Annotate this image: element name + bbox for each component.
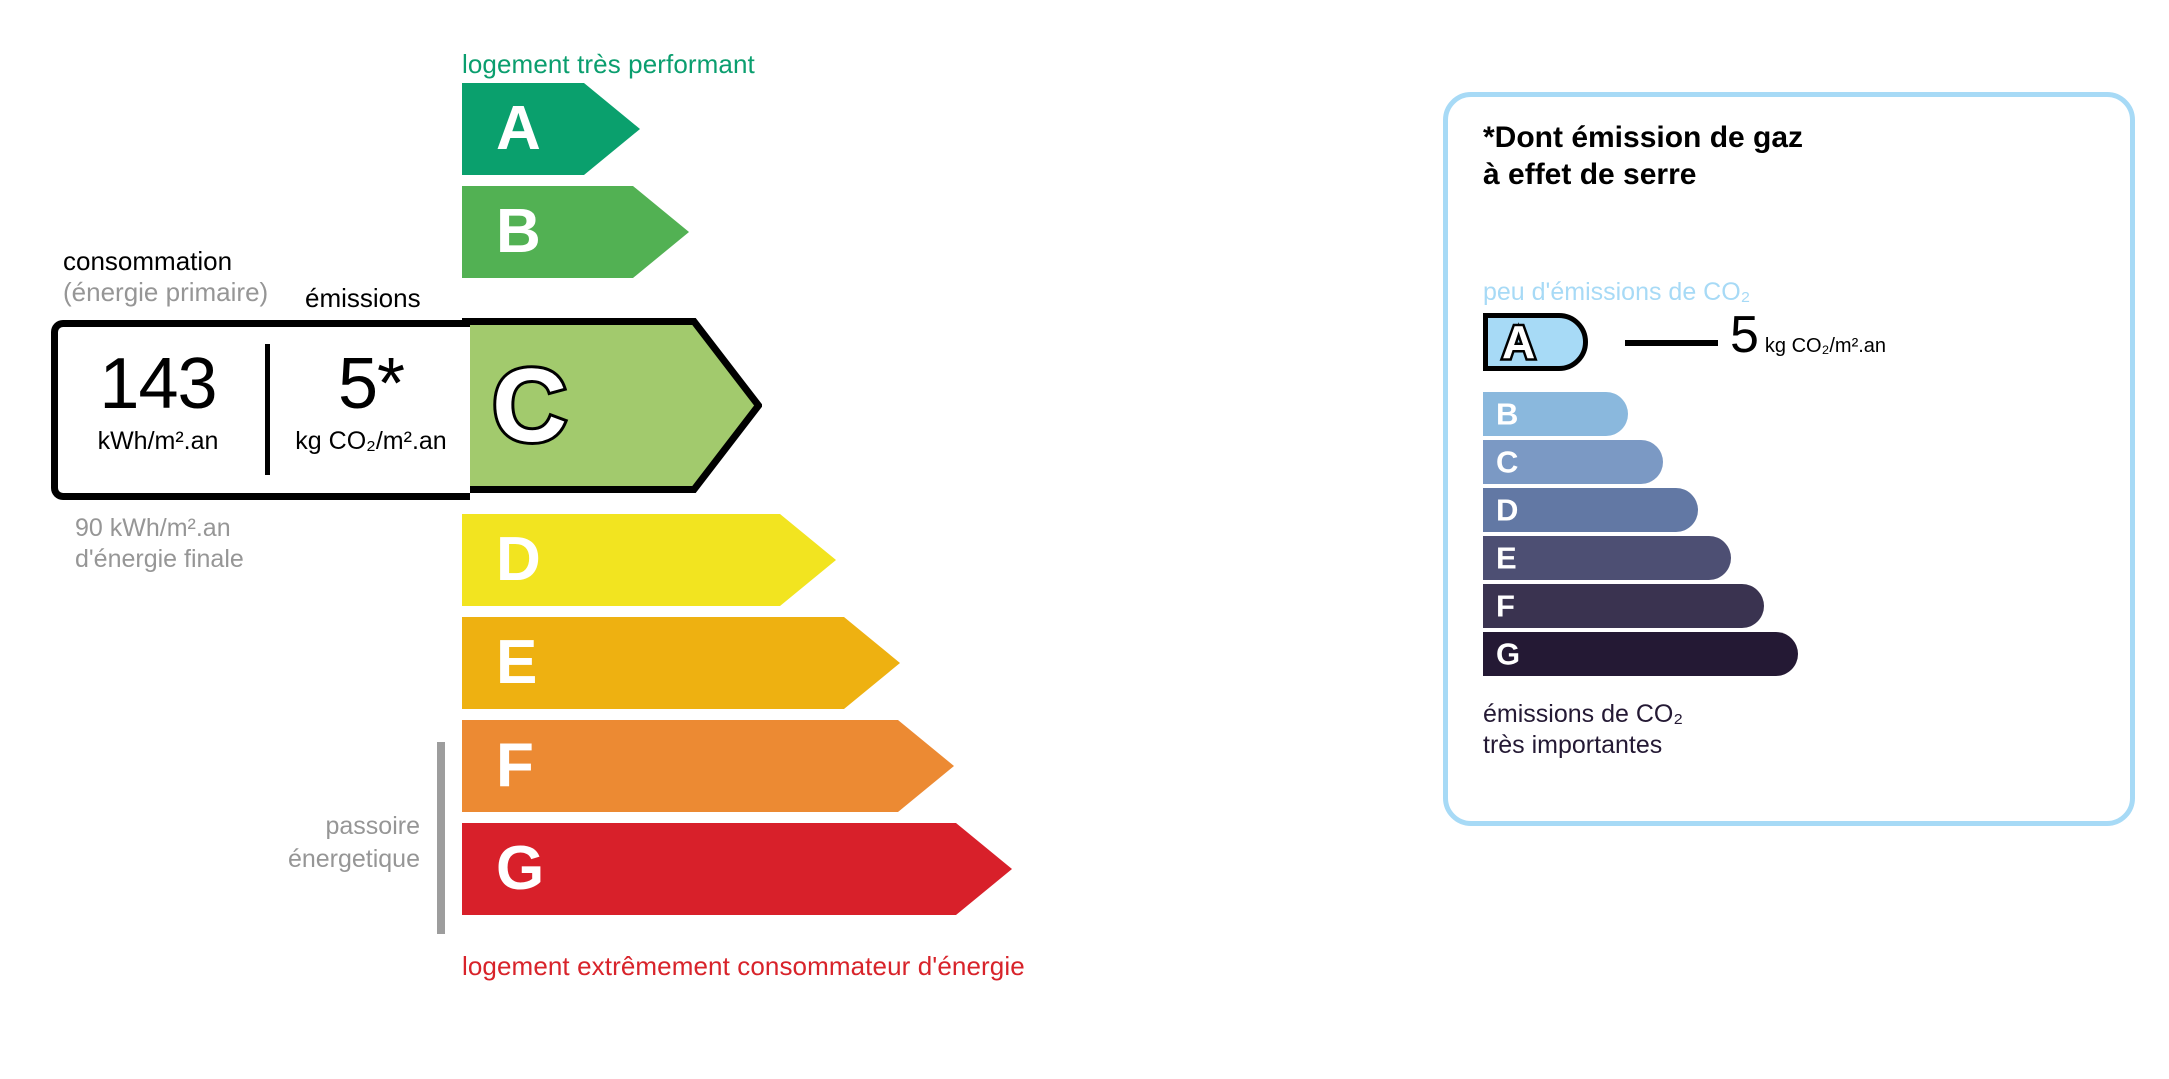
passoire-label-line1: passoire bbox=[180, 810, 420, 843]
co2-bar-b: B bbox=[1483, 392, 1628, 436]
dpe-arrow-letter-b: B bbox=[496, 201, 541, 263]
dpe-arrow-b: B bbox=[462, 186, 689, 278]
co2-bar-c: C bbox=[1483, 440, 1663, 484]
dpe-class-b: B bbox=[462, 186, 689, 278]
co2-bottom-caption-line2: très importantes bbox=[1483, 730, 1683, 761]
co2-bar-e: E bbox=[1483, 536, 1731, 580]
co2-class-c: C bbox=[1483, 440, 1663, 484]
dpe-arrow-letter-a: A bbox=[496, 98, 541, 160]
co2-bar-g: G bbox=[1483, 632, 1798, 676]
co2-class-b: B bbox=[1483, 392, 1628, 436]
co2-bar-letter-c: C bbox=[1496, 447, 1518, 478]
dpe-bottom-caption: logement extrêmement consommateur d'éner… bbox=[462, 951, 1025, 982]
co2-class-d: D bbox=[1483, 488, 1698, 532]
dpe-arrow-c: C bbox=[462, 318, 762, 493]
co2-bar-letter-b: B bbox=[1496, 399, 1518, 430]
consumption-value: 143 bbox=[51, 348, 265, 420]
passoire-label: passoire énergetique bbox=[180, 810, 420, 875]
co2-class-e: E bbox=[1483, 536, 1731, 580]
emissions-value: 5* bbox=[272, 348, 470, 420]
value-box-divider bbox=[265, 344, 270, 475]
emissions-header: émissions bbox=[305, 283, 421, 314]
co2-title: *Dont émission de gaz à effet de serre bbox=[1483, 120, 1803, 193]
consumption-header-line1: consommation bbox=[63, 246, 232, 276]
co2-value-readout: 5kg CO₂/m².an bbox=[1730, 309, 1886, 361]
consumption-header: consommation (énergie primaire) bbox=[63, 246, 268, 307]
dpe-top-caption: logement très performant bbox=[462, 49, 755, 80]
dpe-arrow-letter-g: G bbox=[496, 838, 544, 900]
dpe-energy-label: logement très performant ABCDEFG consomm… bbox=[0, 0, 1400, 1079]
dpe-arrow-d: D bbox=[462, 514, 836, 606]
dpe-class-f: F bbox=[462, 720, 954, 812]
consumption-unit: kWh/m².an bbox=[51, 427, 265, 456]
dpe-arrow-letter-d: D bbox=[496, 529, 541, 591]
emissions-unit: kg CO₂/m².an bbox=[272, 427, 470, 456]
consumption-value-cell: 143 kWh/m².an bbox=[51, 348, 265, 456]
co2-bar-letter-e: E bbox=[1496, 543, 1517, 574]
dpe-arrow-a: A bbox=[462, 83, 640, 175]
co2-top-caption: peu d'émissions de CO₂ bbox=[1483, 278, 1750, 307]
co2-bar-letter-f: F bbox=[1496, 591, 1515, 622]
dpe-arrow-g: G bbox=[462, 823, 1012, 915]
dpe-class-c: C bbox=[462, 318, 762, 493]
co2-unit: kg CO₂/m².an bbox=[1765, 335, 1886, 357]
dpe-arrow-letter-c: C bbox=[492, 354, 567, 458]
co2-class-g: G bbox=[1483, 632, 1798, 676]
co2-bar-letter-g: G bbox=[1496, 639, 1520, 670]
final-energy-line1: 90 kWh/m².an bbox=[75, 513, 244, 544]
dpe-arrow-letter-e: E bbox=[496, 632, 537, 694]
co2-title-line2: à effet de serre bbox=[1483, 157, 1803, 194]
passoire-bracket bbox=[437, 742, 445, 934]
co2-bar-letter-a: A bbox=[1502, 319, 1535, 365]
dpe-class-d: D bbox=[462, 514, 836, 606]
dpe-arrow-e: E bbox=[462, 617, 900, 709]
passoire-label-line2: énergetique bbox=[180, 843, 420, 876]
co2-bar-d: D bbox=[1483, 488, 1698, 532]
consumption-header-line2: (énergie primaire) bbox=[63, 277, 268, 308]
co2-class-f: F bbox=[1483, 584, 1764, 628]
dpe-arrow-f: F bbox=[462, 720, 954, 812]
final-energy-note: 90 kWh/m².an d'énergie finale bbox=[75, 513, 244, 576]
emissions-value-cell: 5* kg CO₂/m².an bbox=[272, 348, 470, 456]
co2-leader-line bbox=[1625, 340, 1718, 346]
co2-bottom-caption: émissions de CO₂ très importantes bbox=[1483, 699, 1683, 761]
co2-title-line1: *Dont émission de gaz bbox=[1483, 120, 1803, 157]
dpe-arrow-letter-f: F bbox=[496, 735, 534, 797]
dpe-class-e: E bbox=[462, 617, 900, 709]
co2-bar-letter-d: D bbox=[1496, 495, 1518, 526]
co2-value: 5 bbox=[1730, 306, 1759, 364]
final-energy-line2: d'énergie finale bbox=[75, 544, 244, 575]
dpe-class-g: G bbox=[462, 823, 1012, 915]
co2-bottom-caption-line1: émissions de CO₂ bbox=[1483, 699, 1683, 730]
dpe-class-a: A bbox=[462, 83, 640, 175]
co2-bar-f: F bbox=[1483, 584, 1764, 628]
co2-bar-a: A bbox=[1483, 313, 1588, 371]
co2-class-a: A bbox=[1483, 313, 1588, 371]
